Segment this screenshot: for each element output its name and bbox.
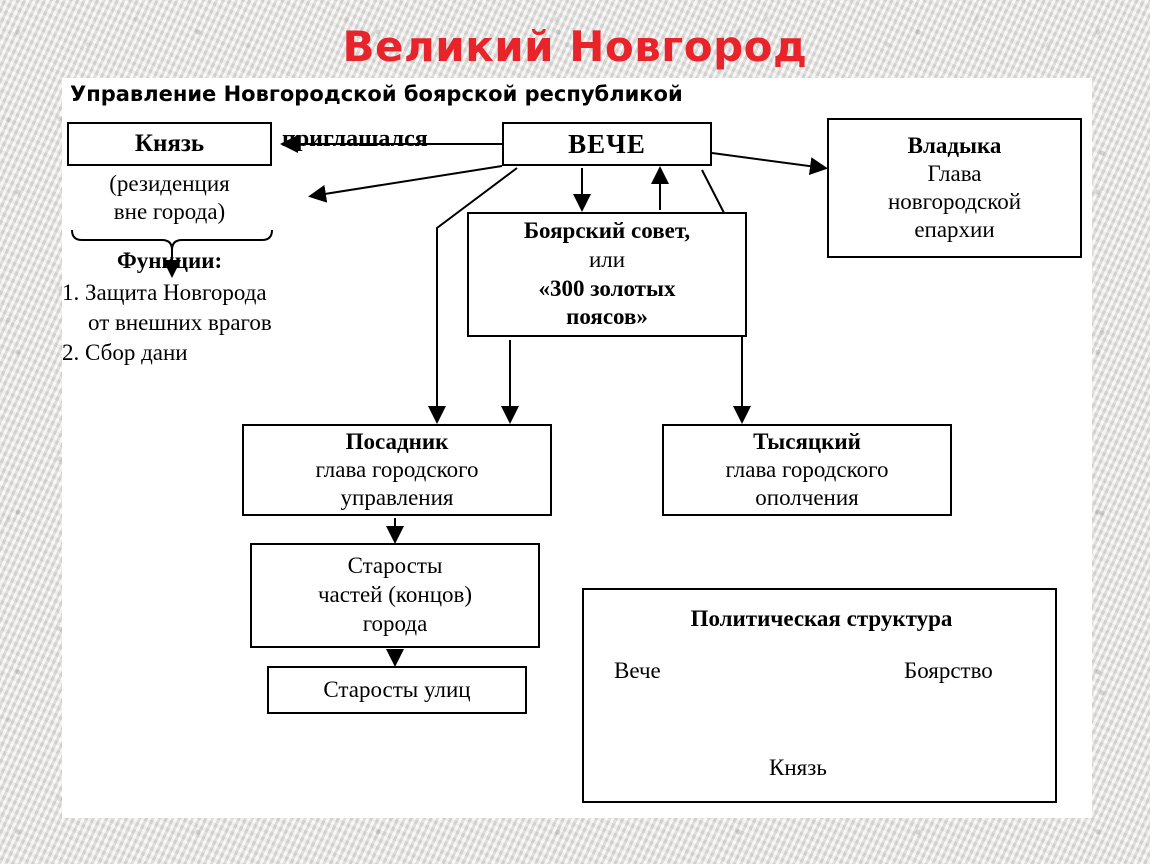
box-vladyka-line3: новгородской bbox=[888, 188, 1021, 216]
box-starosty-chastey-line1: Старосты bbox=[348, 552, 443, 581]
label-rezidenciya-line1: (резиденция bbox=[62, 170, 277, 198]
diagram-canvas: Управление Новгородской боярской республ… bbox=[62, 78, 1092, 818]
label-funkcii: Функции: bbox=[117, 248, 222, 274]
box-vladyka-title: Владыка bbox=[908, 132, 1002, 160]
box-starosty-chastey-line2: частей (концов) bbox=[318, 581, 472, 610]
box-posadnik-line2: глава городского bbox=[316, 456, 479, 484]
label-rezidenciya: (резиденция вне города) bbox=[62, 170, 277, 225]
function-1-line1: 1. Защита Новгорода bbox=[62, 278, 422, 308]
box-posadnik[interactable]: Посадник глава городского управления bbox=[242, 424, 552, 516]
polit-vertex-boyarstvo: Боярство bbox=[904, 658, 993, 684]
box-veche[interactable]: ВЕЧЕ bbox=[502, 122, 712, 166]
box-tysyackiy-line2: глава городского bbox=[726, 456, 889, 484]
box-tysyackiy-line3: ополчения bbox=[755, 484, 858, 512]
box-veche-label: ВЕЧЕ bbox=[568, 129, 646, 160]
box-tysyackiy[interactable]: Тысяцкий глава городского ополчения bbox=[662, 424, 952, 516]
polit-title: Политическая структура bbox=[584, 606, 1059, 632]
box-starosty-chastey-line3: города bbox=[363, 610, 428, 639]
org-chart: Управление Новгородской боярской республ… bbox=[62, 78, 1092, 818]
box-posadnik-title: Посадник bbox=[346, 428, 449, 456]
box-sovet-line2: или bbox=[589, 246, 625, 275]
functions-list: 1. Защита Новгорода от внешних врагов 2.… bbox=[62, 278, 422, 368]
box-vladyka-line4: епархии bbox=[914, 216, 994, 244]
box-knyaz-label: Князь bbox=[135, 130, 204, 158]
function-1-line2: от внешних врагов bbox=[62, 308, 422, 338]
function-2: 2. Сбор дани bbox=[62, 338, 422, 368]
box-sovet-line3: «300 золотых bbox=[539, 275, 676, 304]
box-starosty-chastey[interactable]: Старосты частей (концов) города bbox=[250, 543, 540, 648]
polit-vertex-veche: Вече bbox=[614, 658, 661, 684]
box-knyaz[interactable]: Князь bbox=[67, 122, 272, 166]
page-title: Великий Новгород bbox=[0, 22, 1150, 71]
label-priglashalsya: приглашался bbox=[282, 126, 428, 153]
label-rezidenciya-line2: вне города) bbox=[62, 198, 277, 226]
box-starosty-ulits-label: Старосты улиц bbox=[323, 677, 470, 703]
box-vladyka-line2: Глава bbox=[927, 160, 981, 188]
box-politicheskaya-struktura[interactable]: Политическая структура Вече Боярство Кня… bbox=[582, 588, 1057, 803]
box-sovet-line4: поясов» bbox=[566, 303, 648, 332]
box-posadnik-line3: управления bbox=[341, 484, 454, 512]
polit-vertex-knyaz: Князь bbox=[769, 755, 827, 781]
box-sovet-line1: Боярский совет, bbox=[524, 217, 690, 246]
box-boyarskiy-sovet[interactable]: Боярский совет, или «300 золотых поясов» bbox=[467, 212, 747, 337]
box-vladyka[interactable]: Владыка Глава новгородской епархии bbox=[827, 118, 1082, 258]
box-starosty-ulits[interactable]: Старосты улиц bbox=[267, 666, 527, 714]
box-tysyackiy-title: Тысяцкий bbox=[753, 428, 861, 456]
